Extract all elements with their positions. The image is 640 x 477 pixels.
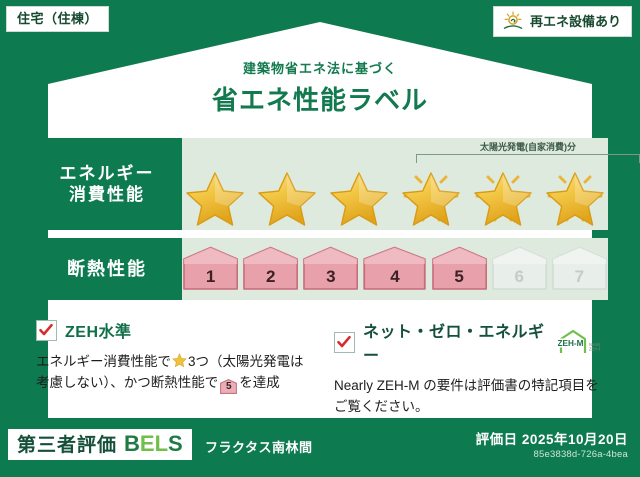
netzero-checkbox (334, 332, 355, 353)
net-zero-energy-column: ネット・ゼロ・エネルギー ZEH-M Nearly ZEH-M Nearly Z… (320, 318, 610, 414)
star-icon (326, 164, 392, 226)
star-icon (254, 164, 320, 226)
insulation-grade-value: 5 (454, 267, 463, 287)
energy-performance-label: エネルギー 消費性能 (32, 138, 182, 230)
insulation-grade-value: 2 (266, 267, 275, 287)
bels-en-label: BELS (124, 433, 183, 455)
zeh-checkbox (36, 320, 57, 341)
solar-bracket (416, 154, 640, 163)
insulation-grade-2: 2 (242, 246, 299, 290)
building-type-label: 住宅（住棟） (17, 11, 98, 26)
zeh-description: エネルギー消費性能で3つ（太陽光発電は考慮しない）、かつ断熱性能で5を達成 (36, 351, 310, 394)
insulation-grade-value: 7 (575, 267, 584, 287)
energy-label-line1: エネルギー (60, 163, 155, 184)
evaluation-date-value: 2025年10月20日 (522, 432, 628, 447)
netzero-description: Nearly ZEH-M の要件は評価書の特記項目をご覧ください。 (334, 375, 600, 418)
insulation-grade-value: 1 (206, 267, 215, 287)
bels-jp-label: 第三者評価 (17, 436, 117, 455)
star-icon (470, 164, 536, 226)
insulation-grade-6: 6 (491, 246, 548, 290)
energy-label-root: 住宅（住棟） 再エネ設備あり 建築物省エネ法に基づく 省エネ性能ラベル エネル (0, 0, 640, 477)
zeh-title: ZEH水準 (65, 318, 132, 342)
info-columns: ZEH水準 エネルギー消費性能で3つ（太陽光発電は考慮しない）、かつ断熱性能で5… (30, 318, 610, 414)
evaluation-id: 85e3838d-726a-4bea (534, 449, 628, 460)
insulation-grade-value: 4 (390, 267, 399, 287)
inline-grade-badge: 5 (220, 379, 237, 394)
star-icon (182, 164, 248, 226)
zeh-text-part1: エネルギー消費性能で (36, 354, 171, 369)
insulation-grade-value: 6 (515, 267, 524, 287)
insulation-performance-row: 断熱性能 1 2 3 4 5 6 (32, 238, 608, 300)
insulation-grade-4: 4 (362, 246, 427, 290)
insulation-grade-3: 3 (302, 246, 359, 290)
renewable-badge-label: 再エネ設備あり (530, 15, 621, 28)
insulation-grade-7: 7 (551, 246, 608, 290)
insulation-grade-value: 3 (326, 267, 335, 287)
zeh-header: ZEH水準 (36, 318, 310, 342)
energy-performance-row: エネルギー 消費性能 太陽光発電(自家消費)分 (32, 138, 608, 230)
insulation-performance-label: 断熱性能 (32, 238, 182, 300)
netzero-header: ネット・ゼロ・エネルギー ZEH-M Nearly ZEH-M (334, 318, 600, 366)
bels-letter-b: B (124, 431, 140, 456)
insulation-performance-body: 1 2 3 4 5 6 7 (182, 238, 608, 300)
building-name: フラクタス南林間 (205, 437, 312, 456)
star-icon (542, 164, 608, 226)
insulation-grade-5: 5 (431, 246, 488, 290)
label-subtitle: 建築物省エネ法に基づく (0, 58, 640, 77)
netzero-title: ネット・ゼロ・エネルギー (363, 318, 548, 366)
inline-star-icon (172, 353, 187, 368)
energy-label-line2: 消費性能 (69, 184, 145, 205)
energy-star-rating (182, 164, 608, 226)
evaluation-date-label: 評価日 (476, 432, 518, 447)
solar-generation-note: 太陽光発電(自家消費)分 (416, 140, 640, 153)
insulation-grade-1: 1 (182, 246, 239, 290)
svg-text:ZEH-M: ZEH-M (589, 347, 600, 352)
bels-letter-s: S (168, 431, 183, 456)
energy-performance-body: 太陽光発電(自家消費)分 (182, 138, 608, 230)
inline-grade-value: 5 (220, 379, 237, 395)
bels-letters-el: EL (140, 431, 168, 456)
renewable-equipment-badge: 再エネ設備あり (493, 6, 632, 37)
zeh-text-part3: を達成 (239, 375, 280, 390)
label-footer: 第三者評価 BELS フラクタス南林間 評価日 2025年10月20日 85e3… (0, 418, 640, 477)
sun-icon (502, 11, 524, 31)
zeh-m-logo-icon: ZEH-M Nearly ZEH-M (558, 329, 600, 355)
svg-text:ZEH-M: ZEH-M (558, 339, 584, 348)
bels-badge: 第三者評価 BELS (8, 429, 192, 460)
building-type-tag: 住宅（住棟） (6, 6, 109, 32)
star-icon (398, 164, 464, 226)
zeh-standard-column: ZEH水準 エネルギー消費性能で3つ（太陽光発電は考慮しない）、かつ断熱性能で5… (30, 318, 320, 414)
evaluation-date: 評価日 2025年10月20日 (476, 428, 628, 448)
insulation-grade-scale: 1 2 3 4 5 6 7 (182, 246, 608, 290)
insulation-label-text: 断熱性能 (67, 258, 147, 281)
page-title: 省エネ性能ラベル (0, 80, 640, 117)
